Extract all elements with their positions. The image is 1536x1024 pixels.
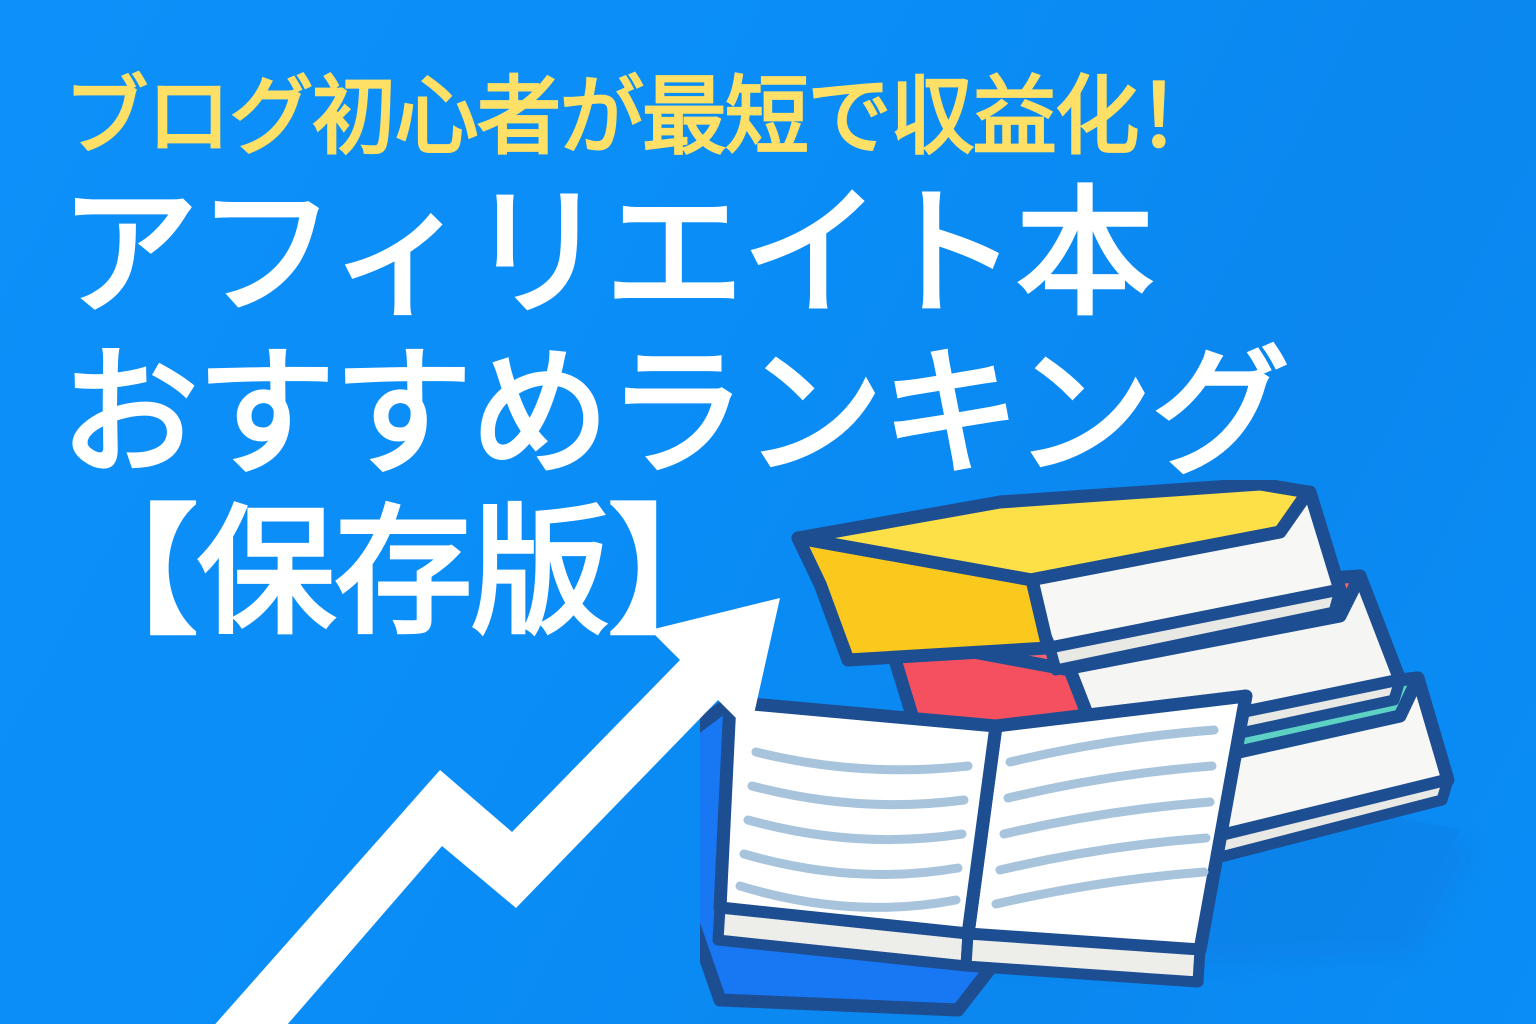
banner-subtitle: ブログ初心者が最短で収益化！ bbox=[64, 74, 1285, 160]
banner-title-line-1: アフィリエイト本 bbox=[60, 174, 1298, 334]
growth-arrow-path bbox=[110, 598, 780, 1024]
banner-title-line-3: 【保存版】 bbox=[60, 493, 1298, 653]
banner-title-line-2: おすすめランキング bbox=[60, 334, 1298, 494]
banner-text-block: ブログ初心者が最短で収益化！ アフィリエイト本 おすすめランキング 【保存版】 bbox=[60, 74, 1310, 653]
banner-canvas: ブログ初心者が最短で収益化！ アフィリエイト本 おすすめランキング 【保存版】 bbox=[0, 0, 1536, 1024]
